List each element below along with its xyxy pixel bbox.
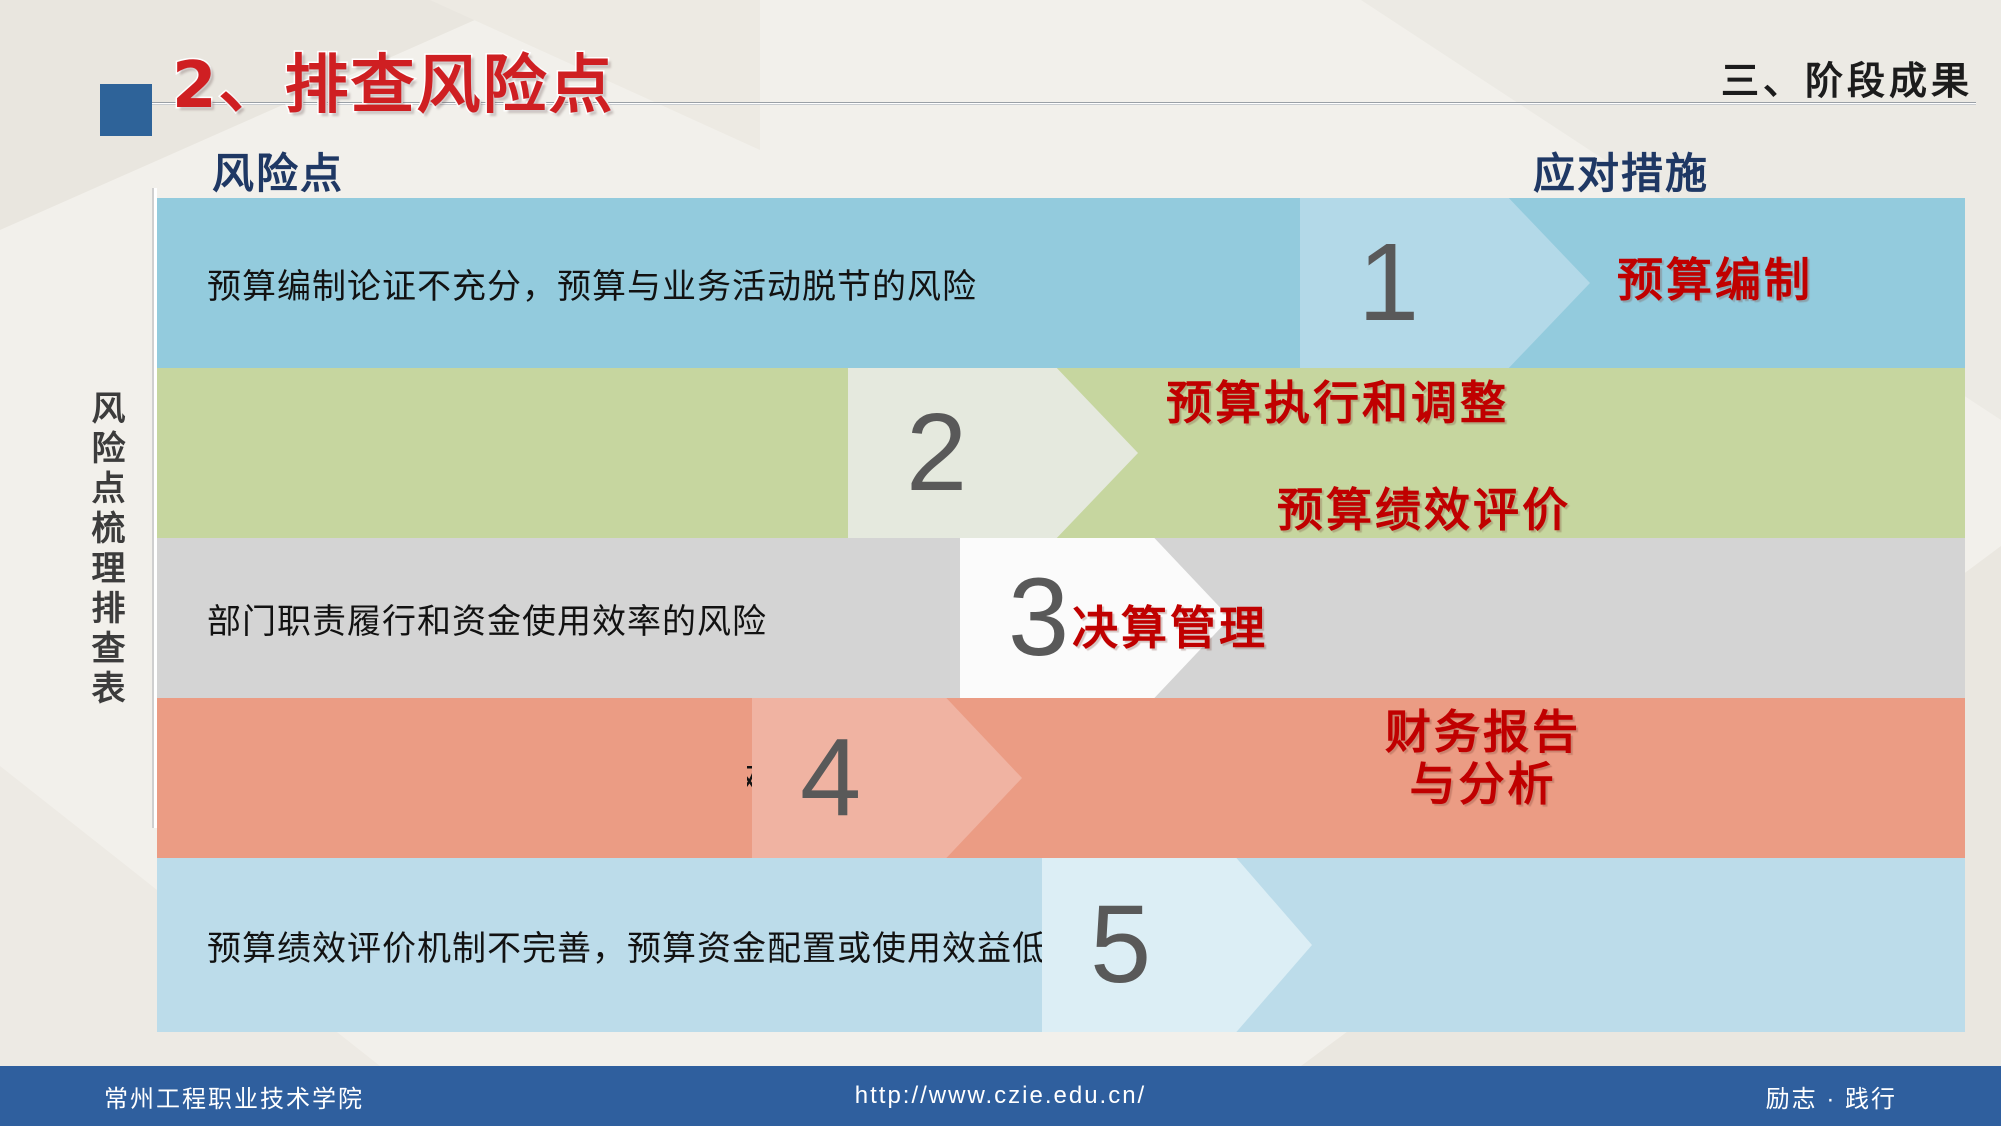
measure-label-5: 财务报告 与分析 [1385,707,1581,810]
step-number: 5 [1090,890,1151,1000]
step-number: 3 [1008,563,1069,673]
footer-motto: 励志 · 践行 [1766,1079,1897,1114]
column-heading-measures: 应对措施 [1533,140,1709,201]
measure-label-2: 预算执行和调整 [1166,378,1509,430]
footer-bar: 常州工程职业技术学院 http://www.czie.edu.cn/ 励志 · … [0,1066,2001,1126]
column-heading-risk: 风险点 [212,140,344,201]
row-lead-segment [157,698,747,858]
step-number: 4 [800,723,861,833]
footer-url[interactable]: http://www.czie.edu.cn/ [855,1082,1146,1110]
risk-text: 预算编制论证不充分，预算与业务活动脱节的风险 [157,259,977,308]
measure-label-3: 预算绩效评价 [1277,485,1571,537]
footer-institution: 常州工程职业技术学院 [104,1079,364,1114]
header-accent-square [100,84,152,136]
measure-label-4: 决算管理 [1072,603,1268,655]
slide-canvas: 2、排查风险点 三、阶段成果 风险点梳理排查表 风险点 应对措施 预算编制论证不… [0,0,2001,1126]
measure-label-1: 预算编制 [1617,255,1813,307]
step-number: 2 [906,398,967,508]
page-title: 2、排查风险点 [172,34,615,126]
step-number: 1 [1358,228,1419,338]
risk-text: 预算绩效评价机制不完善，预算资金配置或使用效益低下风险 [157,921,1152,970]
row-lead-segment [157,368,857,538]
vertical-table-caption: 风险点梳理排查表 [88,390,122,710]
risk-text: 部门职责履行和资金使用效率的风险 [157,594,767,643]
section-breadcrumb: 三、阶段成果 [1721,50,1973,105]
